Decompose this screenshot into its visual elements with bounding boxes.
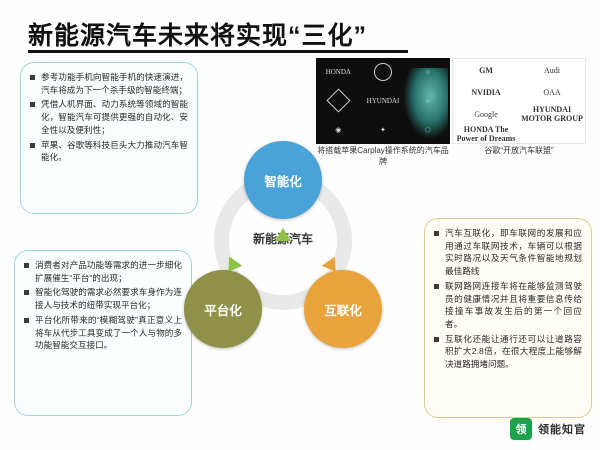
- oaa-brands-image: GM Audi NVIDIA OAA Google HYUNDAI MOTOR …: [452, 58, 586, 144]
- car-logo-mark: ✦: [361, 115, 406, 144]
- oaa-logo-grid: GM Audi NVIDIA OAA Google HYUNDAI MOTOR …: [453, 59, 585, 143]
- node-platform-label: 平台化: [204, 300, 242, 319]
- list-item: 汽车互联化，即车联网的发展和应用通过车联网技术，车辆可以根据实时路况以及天气条件…: [434, 227, 582, 278]
- node-intelligent[interactable]: 智能化: [244, 141, 322, 219]
- list-item: 联网路网连接车将在能够监测驾驶员的健康情况并且将重要信息传给接撞车事故发生后的第…: [434, 280, 582, 331]
- list-item: 平台化所带来的“模糊驾驶”真正意义上将车从代步工具变成了一个人与物的多功能智能交…: [24, 314, 182, 352]
- list-item: 参考功能手机向智能手机的快速演进，汽车将成为下一个杀手级的智能终端；: [30, 71, 188, 96]
- car-logo-honda: HONDA: [316, 58, 361, 87]
- teal-swoosh-decoration: [404, 68, 448, 138]
- callout-top-left: 参考功能手机向智能手机的快速演进，汽车将成为下一个杀手级的智能终端； 凭借人机界…: [20, 62, 198, 214]
- tech-logo-nvidia: NVIDIA: [453, 81, 519, 103]
- brand-logo-icon: 领: [510, 418, 532, 440]
- car-logo-ring: [361, 58, 406, 87]
- arrow-up-icon: [275, 228, 291, 241]
- callout-bottom-right-list: 汽车互联化，即车联网的发展和应用通过车联网技术，车辆可以根据实时路况以及天气条件…: [434, 227, 582, 371]
- carplay-image-caption: 将搭载苹果Carplay操作系统的汽车品牌: [316, 146, 450, 168]
- car-logo-hex: [316, 87, 361, 116]
- tech-logo-audi: Audi: [519, 59, 585, 81]
- callout-bottom-left-list: 消费者对产品功能等需求的进一步细化扩展催生“平台”的出现； 智能化驾驶的需求必然…: [24, 259, 182, 352]
- node-platform[interactable]: 平台化: [184, 270, 262, 348]
- tech-logo-google: Google: [453, 103, 519, 125]
- list-item: 消费者对产品功能等需求的进一步细化扩展催生“平台”的出现；: [24, 259, 182, 284]
- footer-brand: 领 领能知官: [510, 418, 586, 440]
- node-connected-label: 互联化: [324, 300, 362, 319]
- car-logo-hyundai: HYUNDAI: [361, 87, 406, 116]
- node-intelligent-label: 智能化: [264, 171, 302, 190]
- brand-name: 领能知官: [538, 421, 586, 437]
- carplay-brands-image: HONDA ◆ HYUNDAI ◈ ◉ ✦ ⬡: [316, 58, 450, 144]
- callout-bottom-left: 消费者对产品功能等需求的进一步细化扩展催生“平台”的出现； 智能化驾驶的需求必然…: [14, 250, 192, 416]
- tech-logo-oaa: OAA: [519, 81, 585, 103]
- page-title: 新能源汽车未来将实现“三化”: [28, 16, 367, 52]
- node-connected[interactable]: 互联化: [304, 270, 382, 348]
- oaa-image-caption: 谷歌“开放汽车联盟”: [452, 146, 586, 157]
- tech-logo-gm: GM: [453, 59, 519, 81]
- title-underline: [28, 50, 408, 53]
- car-logo-circle: ◉: [316, 115, 361, 144]
- list-item: 互联化还能让通行还可以让道路容积扩大2.8倍，在很大程度上能够解决道路拥堵问题。: [434, 333, 582, 371]
- callout-bottom-right: 汽车互联化，即车联网的发展和应用通过车联网技术，车辆可以根据实时路况以及天气条件…: [424, 218, 592, 418]
- slide-root: 新能源汽车未来将实现“三化” 参考功能手机向智能手机的快速演进，汽车将成为下一个…: [0, 0, 600, 450]
- callout-top-left-list: 参考功能手机向智能手机的快速演进，汽车将成为下一个杀手级的智能终端； 凭借人机界…: [30, 71, 188, 164]
- tech-logo-honda: HONDA The Power of Dreams: [453, 125, 519, 143]
- list-item: 凭借人机界面、动力系统等领域的智能化，智能汽车可提供更强的自动化、安全性以及便利…: [30, 98, 188, 136]
- three-hua-diagram: 新能源汽车 智能化 平台化 互联化: [196, 160, 371, 350]
- tech-logo-hyundai: HYUNDAI MOTOR GROUP: [519, 103, 585, 125]
- list-item: 苹果、谷歌等科技巨头大力推动汽车智能化。: [30, 139, 188, 164]
- list-item: 智能化驾驶的需求必然要求车身作为连接人与技术的纽带实现平台化；: [24, 286, 182, 311]
